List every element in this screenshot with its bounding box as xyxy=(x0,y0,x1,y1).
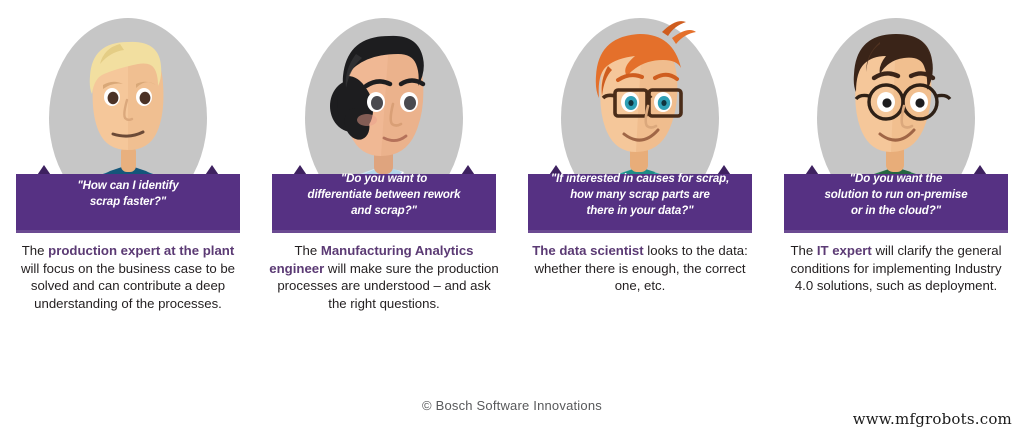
persona-card-data-scientist[interactable]: "If interested in causes for scrap, how … xyxy=(512,0,768,345)
quote-text: "Do you want the solution to run on-prem… xyxy=(768,171,1024,219)
quote-line: how many scrap parts are xyxy=(522,187,758,203)
quote-line: differentiate between rework xyxy=(266,187,502,203)
caption-prefix: The xyxy=(790,243,816,258)
quote-text: "If interested in causes for scrap, how … xyxy=(512,171,768,219)
quote-line: "Do you want to xyxy=(266,171,502,187)
site-watermark: www.mfgrobots.com xyxy=(853,410,1012,428)
quote-ribbon: "If interested in causes for scrap, how … xyxy=(512,160,768,236)
caption-highlight: IT expert xyxy=(817,243,872,258)
quote-line: solution to run on-premise xyxy=(778,187,1014,203)
persona-caption: The IT expert will clarify the general c… xyxy=(768,242,1024,295)
persona-caption: The data scientist looks to the data: wh… xyxy=(512,242,768,295)
persona-card-manufacturing-analytics-engineer[interactable]: "Do you want to differentiate between re… xyxy=(256,0,512,345)
quote-ribbon: "Do you want to differentiate between re… xyxy=(256,160,512,236)
quote-ribbon: "How can I identify scrap faster?" xyxy=(0,160,256,236)
caption-highlight: The data scientist xyxy=(532,243,643,258)
persona-caption: The production expert at the plant will … xyxy=(0,242,256,312)
quote-line: "How can I identify xyxy=(10,178,246,194)
quote-text: "How can I identify scrap faster?" xyxy=(0,178,256,210)
persona-card-production-expert[interactable]: "How can I identify scrap faster?" The p… xyxy=(0,0,256,345)
persona-row: "How can I identify scrap faster?" The p… xyxy=(0,0,1024,345)
caption-highlight: production expert at the plant xyxy=(48,243,234,258)
quote-line: or in the cloud?" xyxy=(778,203,1014,219)
quote-line: there in your data?" xyxy=(522,203,758,219)
persona-card-it-expert[interactable]: "Do you want the solution to run on-prem… xyxy=(768,0,1024,345)
persona-caption: The Manufacturing Analytics engineer wil… xyxy=(256,242,512,312)
quote-line: scrap faster?" xyxy=(10,194,246,210)
quote-line: "If interested in causes for scrap, xyxy=(522,171,758,187)
quote-line: and scrap?" xyxy=(266,203,502,219)
persona-board: "How can I identify scrap faster?" The p… xyxy=(0,0,1024,434)
caption-prefix: The xyxy=(294,243,320,258)
quote-text: "Do you want to differentiate between re… xyxy=(256,171,512,219)
quote-line: "Do you want the xyxy=(778,171,1014,187)
caption-suffix: will focus on the business case to be so… xyxy=(21,261,235,311)
caption-prefix: The xyxy=(22,243,48,258)
quote-ribbon: "Do you want the solution to run on-prem… xyxy=(768,160,1024,236)
